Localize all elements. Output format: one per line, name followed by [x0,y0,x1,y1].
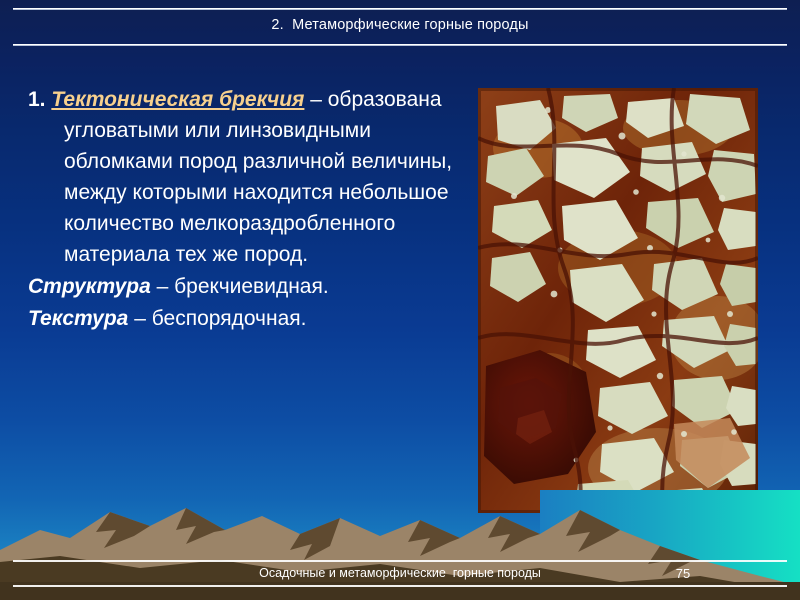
list-item-body: – образована угловатыми или линзовидными… [64,88,452,266]
term-tekstura: Текстура [28,307,128,330]
header-rule-top [13,8,787,10]
list-item: Текстура – беспорядочная. [28,303,458,334]
term-tektonicheskaya-brekchiya: Тектоническая брекчия [51,88,304,111]
list-item: Структура – брекчиевидная. [28,271,458,302]
list-item-body: – брекчиевидная. [151,275,329,298]
slide-body-text: 1. Тектоническая брекчия – образована уг… [28,84,458,335]
slide-header: 2. Метаморфические горные породы [0,0,800,52]
slide-canvas: 2. Метаморфические горные породы 1. Тект… [0,0,800,600]
list-item-body: – беспорядочная. [128,307,306,330]
footer-rule-top [13,560,787,562]
breccia-photo [478,88,758,513]
footer-rule-bottom [13,585,787,587]
page-number: 75 [660,566,706,581]
header-rule-bottom [13,44,787,46]
footer-mountain-scene [0,490,800,600]
list-item-number: 1. [28,88,46,111]
page-title: 2. Метаморфические горные породы [0,17,800,33]
list-item: 1. Тектоническая брекчия – образована уг… [28,84,458,270]
term-struktura: Структура [28,275,151,298]
